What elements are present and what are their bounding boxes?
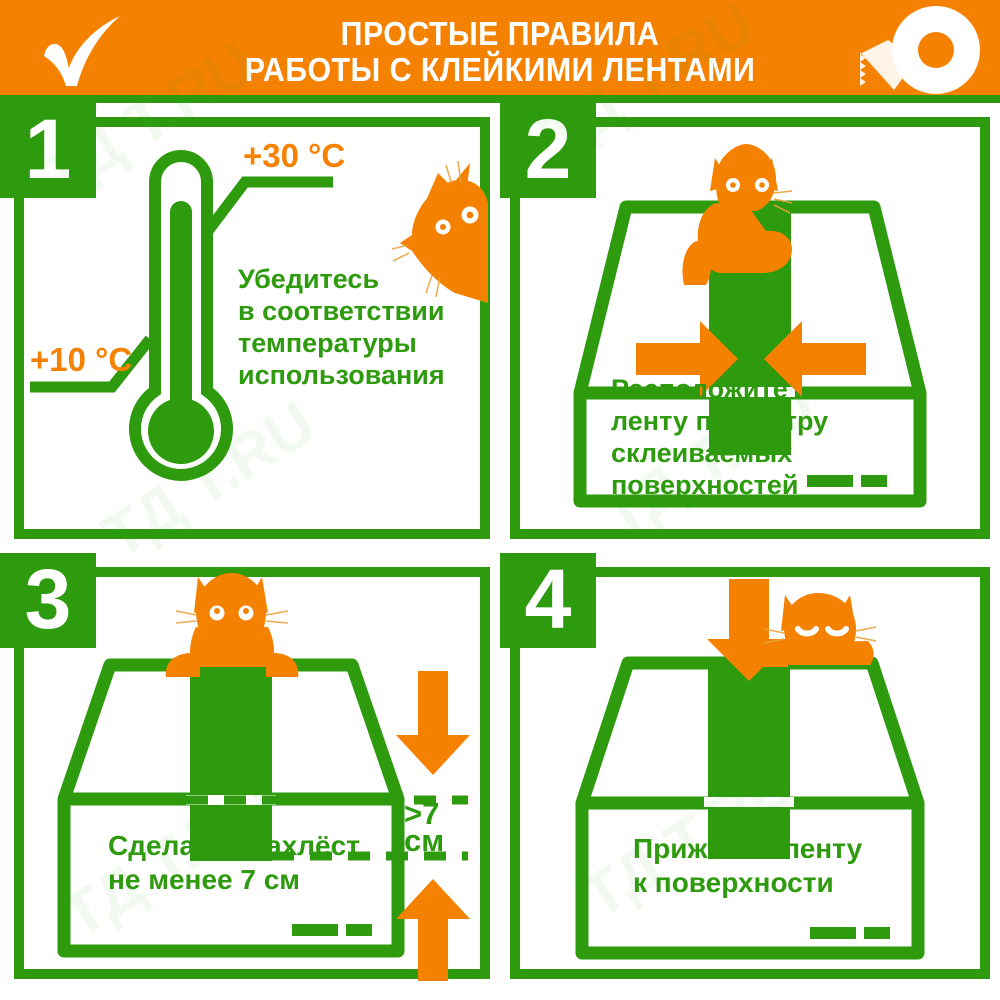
step-badge-4: 4 <box>500 553 596 648</box>
arrow-down-icon <box>396 671 470 775</box>
infographic-poster: ПРОСТЫЕ ПРАВИЛА РАБОТЫ С КЛЕЙКИМИ ЛЕНТАМ… <box>0 0 1000 1000</box>
temp-high-label: +30 °C <box>243 137 345 174</box>
svg-text:ленту по центру: ленту по центру <box>611 406 828 436</box>
svg-text:поверхностей: поверхностей <box>611 470 799 500</box>
svg-text:склеиваемых: склеиваемых <box>611 438 792 468</box>
header-divider <box>0 95 1000 103</box>
svg-text:Сделайте нахлёст: Сделайте нахлёст <box>108 830 360 861</box>
svg-text:Прижмите ленту: Прижмите ленту <box>633 833 863 864</box>
temp-low-label: +10 °C <box>30 341 132 378</box>
cat-peek-right-icon <box>392 161 488 303</box>
svg-text:не менее 7 см: не менее 7 см <box>108 864 300 895</box>
svg-text:см: см <box>404 823 444 858</box>
cat-in-box-icon <box>166 573 299 677</box>
svg-text:использования: использования <box>238 360 445 390</box>
panel-1-text: Убедитесь в соответствии температуры исп… <box>238 264 445 390</box>
panel-1: 1 <box>0 103 500 553</box>
step-number-4: 4 <box>500 553 596 648</box>
step-number-3: 3 <box>0 553 96 648</box>
svg-text:в соответствии: в соответствии <box>238 296 444 326</box>
checkmark-icon <box>36 16 132 86</box>
panel-3-text: Сделайте нахлёст не менее 7 см <box>108 830 360 895</box>
panel-4: 4 <box>500 553 1000 1000</box>
svg-text:температуры: температуры <box>238 328 417 358</box>
tape-roll-icon <box>858 4 988 95</box>
step-number-2: 2 <box>500 103 596 198</box>
svg-text:Расположите: Расположите <box>611 374 788 404</box>
header-banner: ПРОСТЫЕ ПРАВИЛА РАБОТЫ С КЛЕЙКИМИ ЛЕНТАМ… <box>0 0 1000 95</box>
arrow-up-icon <box>396 879 470 981</box>
step-badge-1: 1 <box>0 103 96 198</box>
svg-text:Убедитесь: Убедитесь <box>238 264 379 294</box>
step-badge-2: 2 <box>500 103 596 198</box>
title-line-1: ПРОСТЫЕ ПРАВИЛА <box>178 16 822 52</box>
step-badge-3: 3 <box>0 553 96 648</box>
panel-2: 2 <box>500 103 1000 553</box>
panel-3: 3 >7 см <box>0 553 500 1000</box>
page-title: ПРОСТЫЕ ПРАВИЛА РАБОТЫ С КЛЕЙКИМИ ЛЕНТАМ… <box>178 16 822 88</box>
panel-3-measure: >7 см <box>404 796 444 858</box>
panel-4-text: Прижмите ленту к поверхности <box>633 833 863 898</box>
step-number-1: 1 <box>0 103 96 198</box>
title-line-2: РАБОТЫ С КЛЕЙКИМИ ЛЕНТАМИ <box>178 52 822 88</box>
svg-text:к поверхности: к поверхности <box>633 867 834 898</box>
